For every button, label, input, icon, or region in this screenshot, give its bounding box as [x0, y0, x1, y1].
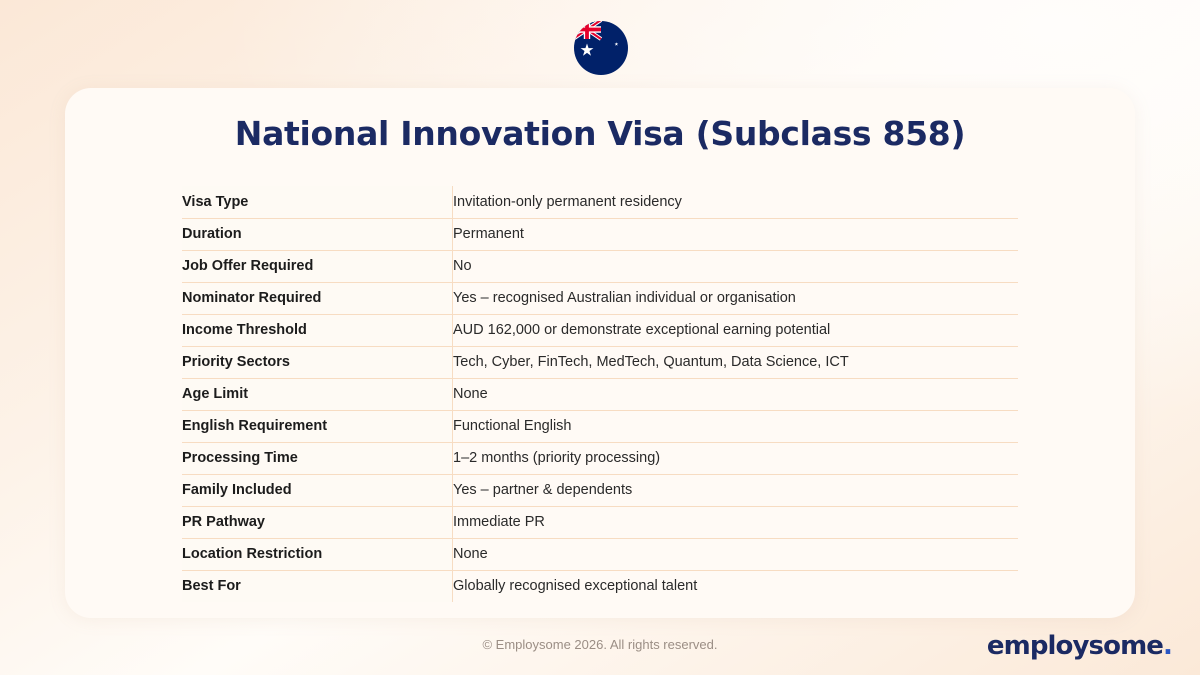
table-row: Duration Permanent: [182, 218, 1018, 250]
row-label: English Requirement: [182, 410, 453, 442]
table-row: English Requirement Functional English: [182, 410, 1018, 442]
row-label: Duration: [182, 218, 453, 250]
table-row: Location Restriction None: [182, 538, 1018, 570]
content-card: National Innovation Visa (Subclass 858) …: [65, 88, 1135, 618]
table-row: Income Threshold AUD 162,000 or demonstr…: [182, 314, 1018, 346]
row-label: Visa Type: [182, 186, 453, 218]
row-value: 1–2 months (priority processing): [453, 442, 1019, 474]
logo-dot: .: [1163, 631, 1172, 661]
table-row: Best For Globally recognised exceptional…: [182, 570, 1018, 602]
row-value: Globally recognised exceptional talent: [453, 570, 1019, 602]
row-label: Nominator Required: [182, 282, 453, 314]
table-row: PR Pathway Immediate PR: [182, 506, 1018, 538]
table-row: Job Offer Required No: [182, 250, 1018, 282]
row-value: Tech, Cyber, FinTech, MedTech, Quantum, …: [453, 346, 1019, 378]
row-value: Immediate PR: [453, 506, 1019, 538]
employsome-logo: employsome.: [987, 631, 1172, 661]
visa-details-table: Visa Type Invitation-only permanent resi…: [182, 186, 1018, 602]
row-value: None: [453, 538, 1019, 570]
row-value: Yes – partner & dependents: [453, 474, 1019, 506]
row-label: Priority Sectors: [182, 346, 453, 378]
row-label: Best For: [182, 570, 453, 602]
slide-canvas: National Innovation Visa (Subclass 858) …: [0, 0, 1200, 675]
row-label: Family Included: [182, 474, 453, 506]
row-value: Functional English: [453, 410, 1019, 442]
row-value: None: [453, 378, 1019, 410]
row-label: PR Pathway: [182, 506, 453, 538]
row-value: Permanent: [453, 218, 1019, 250]
table-body: Visa Type Invitation-only permanent resi…: [182, 186, 1018, 602]
table-row: Processing Time 1–2 months (priority pro…: [182, 442, 1018, 474]
table-row: Family Included Yes – partner & dependen…: [182, 474, 1018, 506]
row-label: Job Offer Required: [182, 250, 453, 282]
row-label: Income Threshold: [182, 314, 453, 346]
logo-wordmark: employsome: [987, 631, 1163, 661]
row-label: Location Restriction: [182, 538, 453, 570]
row-value: AUD 162,000 or demonstrate exceptional e…: [453, 314, 1019, 346]
table-row: Visa Type Invitation-only permanent resi…: [182, 186, 1018, 218]
row-value: Invitation-only permanent residency: [453, 186, 1019, 218]
table-row: Age Limit None: [182, 378, 1018, 410]
page-title: National Innovation Visa (Subclass 858): [65, 114, 1135, 153]
table-row: Priority Sectors Tech, Cyber, FinTech, M…: [182, 346, 1018, 378]
australia-flag-icon: [573, 20, 629, 76]
row-value: No: [453, 250, 1019, 282]
row-label: Processing Time: [182, 442, 453, 474]
row-value: Yes – recognised Australian individual o…: [453, 282, 1019, 314]
row-label: Age Limit: [182, 378, 453, 410]
table-row: Nominator Required Yes – recognised Aust…: [182, 282, 1018, 314]
